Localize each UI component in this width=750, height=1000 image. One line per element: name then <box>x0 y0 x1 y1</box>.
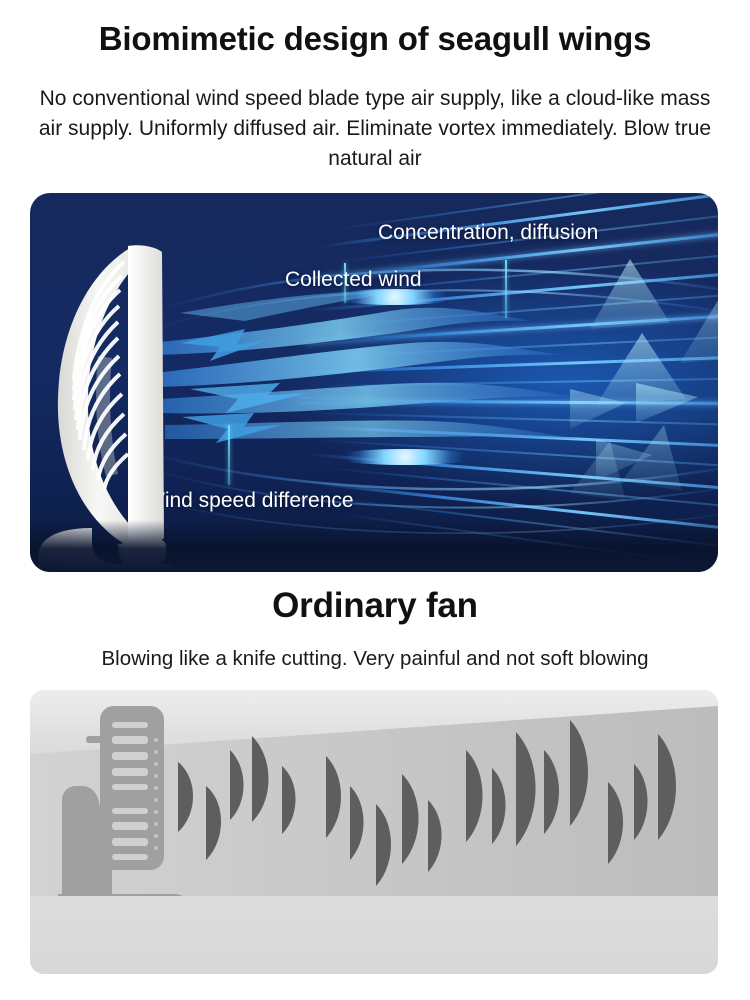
glow-lower <box>330 449 480 465</box>
leader-line-wind-speed <box>228 425 230 485</box>
page-title-ordinary-fan: Ordinary fan <box>0 586 750 626</box>
description-seagull: No conventional wind speed blade type ai… <box>38 84 712 174</box>
page-title-seagull: Biomimetic design of seagull wings <box>0 20 750 58</box>
airflow-illustration-panel: Concentration, diffusion Collected wind … <box>30 193 718 572</box>
seagull-fan-illustration <box>30 228 202 568</box>
panel-bottom-shadow <box>30 520 718 572</box>
panel-floor-band <box>30 896 718 974</box>
product-feature-page: Biomimetic design of seagull wings No co… <box>0 0 750 1000</box>
ordinary-fan-illustration-panel <box>30 690 718 974</box>
label-collected-wind: Collected wind <box>285 268 422 292</box>
leader-line-concentration <box>505 260 507 318</box>
label-concentration-diffusion: Concentration, diffusion <box>378 221 598 245</box>
description-ordinary-fan: Blowing like a knife cutting. Very painf… <box>18 644 732 674</box>
